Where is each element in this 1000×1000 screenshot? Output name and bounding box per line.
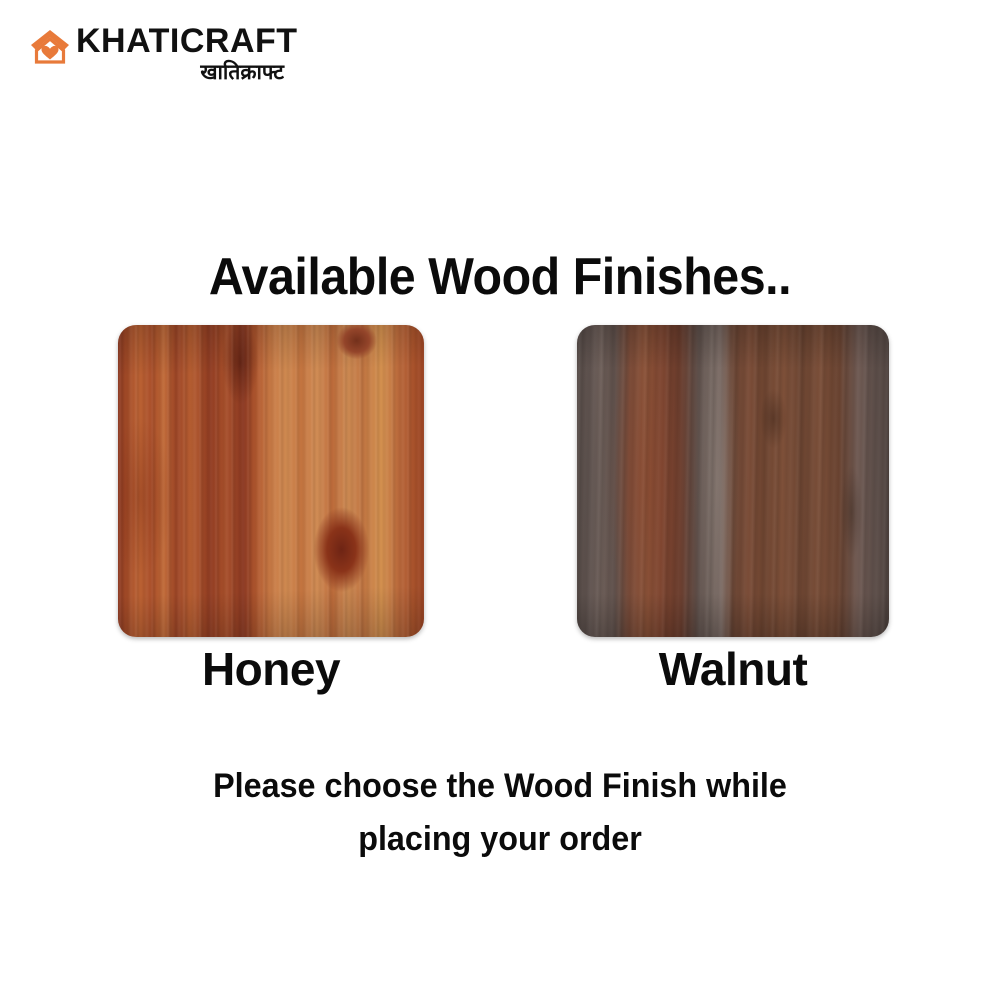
honey-wood-swatch[interactable] — [118, 325, 424, 637]
wood-knot-overlay — [577, 325, 889, 637]
brand-wordmark-devanagari: खातिक्राफ्ट — [76, 62, 284, 83]
footer-note-line-2: placing your order — [168, 813, 833, 866]
finish-option-honey[interactable]: Honey — [118, 325, 424, 693]
walnut-wood-swatch[interactable] — [577, 325, 889, 637]
brand-wordmark: KHATICRAFT — [76, 24, 298, 58]
finish-option-walnut[interactable]: Walnut — [577, 325, 889, 693]
brand-logo: KHATICRAFT खातिक्राफ्ट — [28, 18, 288, 90]
finish-label-walnut: Walnut — [577, 645, 889, 693]
finish-label-honey: Honey — [118, 645, 424, 693]
footer-note-line-1: Please choose the Wood Finish while — [168, 760, 833, 813]
wood-knot-overlay — [118, 325, 424, 637]
house-heart-icon — [28, 26, 72, 66]
footer-note: Please choose the Wood Finish while plac… — [168, 760, 833, 865]
page-title: Available Wood Finishes.. — [35, 247, 965, 307]
